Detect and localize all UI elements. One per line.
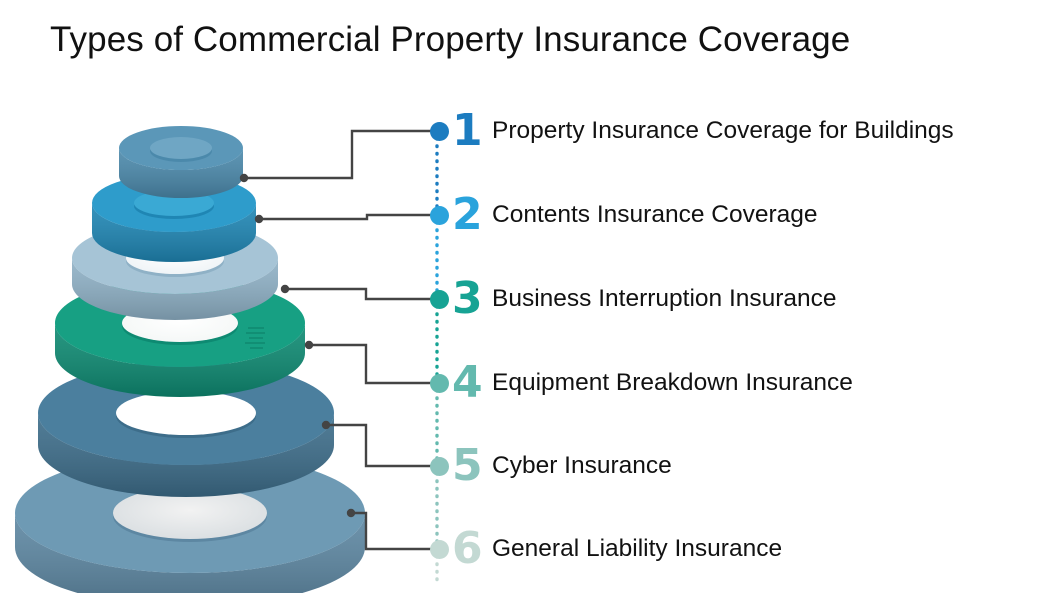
item-number-6: 6	[452, 527, 483, 571]
item-label-4: Equipment Breakdown Insurance	[492, 369, 853, 397]
bullet-dot-6	[430, 540, 449, 559]
bullet-dot-2	[430, 206, 449, 225]
bullet-dot-3	[430, 290, 449, 309]
bullet-dot-4	[430, 374, 449, 393]
bullet-dot-5	[430, 457, 449, 476]
item-label-6: General Liability Insurance	[492, 535, 782, 563]
item-number-1: 1	[452, 109, 483, 153]
item-number-5: 5	[452, 444, 483, 488]
slide-canvas: Types of Commercial Property Insurance C…	[0, 0, 1056, 593]
item-number-4: 4	[452, 361, 483, 405]
item-label-1: Property Insurance Coverage for Building…	[492, 117, 954, 145]
ring-1	[119, 126, 243, 198]
item-number-2: 2	[452, 193, 483, 237]
item-label-5: Cyber Insurance	[492, 452, 672, 480]
bullet-dot-1	[430, 122, 449, 141]
item-label-3: Business Interruption Insurance	[492, 285, 837, 313]
item-number-3: 3	[452, 277, 483, 321]
stacked-rings-graphic	[0, 95, 420, 593]
page-title: Types of Commercial Property Insurance C…	[50, 20, 850, 60]
item-label-2: Contents Insurance Coverage	[492, 201, 818, 229]
